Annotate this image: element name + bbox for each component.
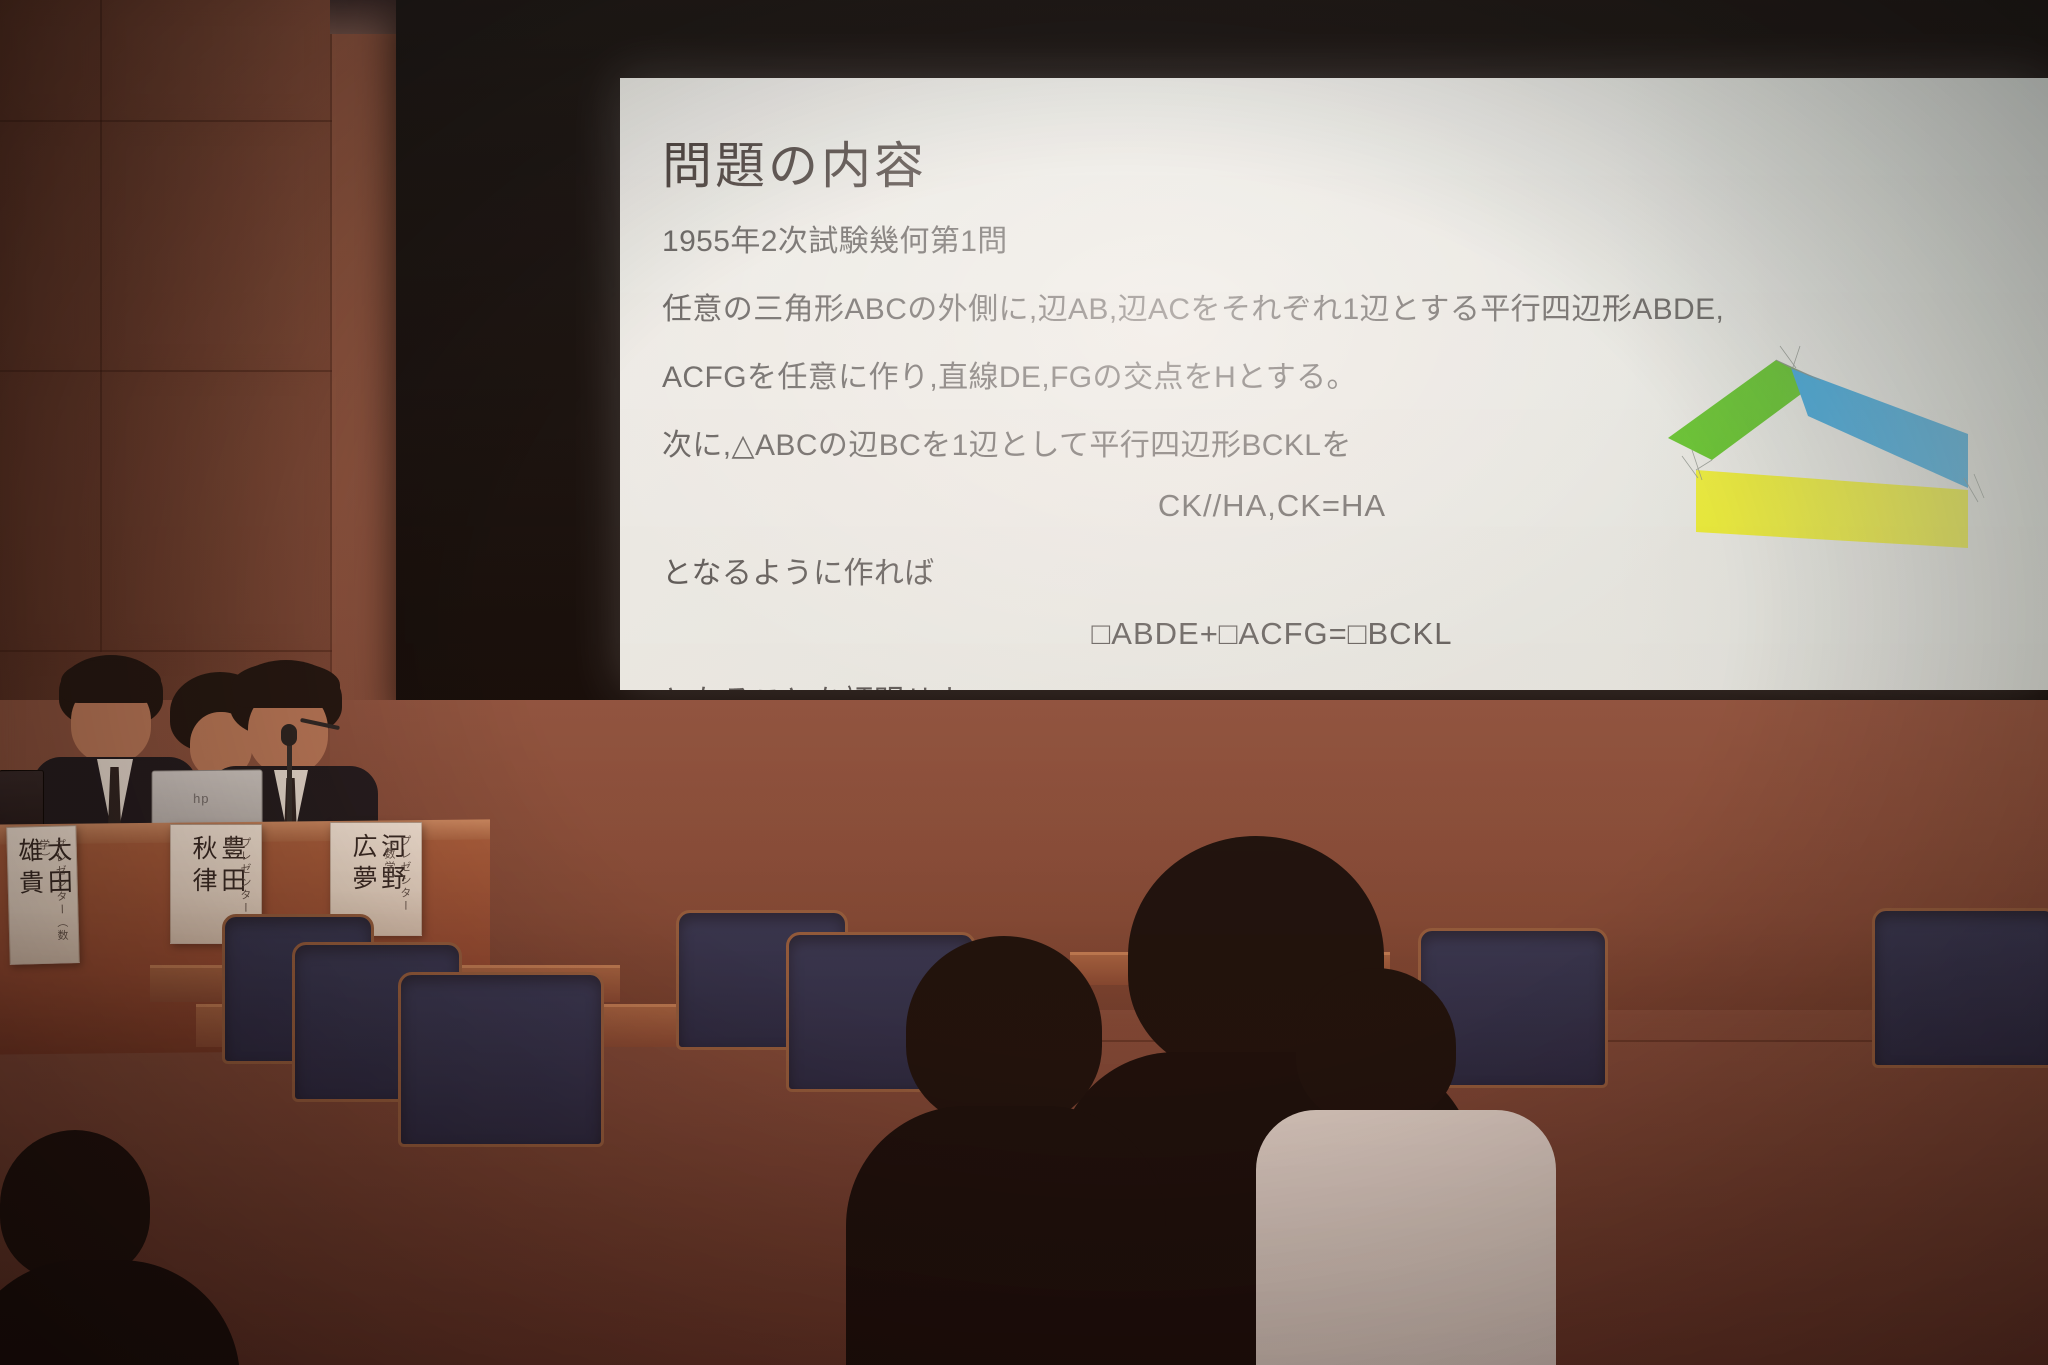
wall-shadow-left xyxy=(0,0,330,700)
audience-chair-7 xyxy=(1872,908,2048,1068)
slide-line-problem-1: 任意の三角形ABCの外側に,辺AB,辺ACをそれぞれ1辺とする平行四辺形ABDE… xyxy=(662,284,2002,328)
yellow-parallelogram-shape xyxy=(1696,470,1968,548)
placard-role-text: プレゼンター（数学） xyxy=(381,835,413,935)
slide-line-exam-reference: 1955年2次試験幾何第1問 xyxy=(662,216,2002,260)
secondary-laptop-lid xyxy=(0,770,44,833)
blue-parallelogram-shape xyxy=(1791,368,1968,488)
microphone-head xyxy=(281,724,297,746)
slide-formula-area-sum: □ABDE+□ACFG=□BCKL xyxy=(662,616,2002,652)
slide-title: 問題の内容 xyxy=(662,126,927,198)
placard-role-text: プレゼンター（数学） xyxy=(36,838,71,963)
slide-line-conclusion: となることを証明せよ。 xyxy=(662,676,2002,690)
microphone-stand xyxy=(287,738,292,830)
name-placard-1: 太田 雄貴 プレゼンター（数学） xyxy=(6,825,80,965)
auditorium-scene: 問題の内容 1955年2次試験幾何第1問 任意の三角形ABCの外側に,辺AB,辺… xyxy=(0,0,2048,1365)
laptop-brand-logo: hp xyxy=(193,791,209,806)
presentation-slide: 問題の内容 1955年2次試験幾何第1問 任意の三角形ABCの外側に,辺AB,辺… xyxy=(620,78,2048,690)
parallelogram-geometry-diagram xyxy=(1668,338,2048,568)
audience-chair-3 xyxy=(398,972,604,1147)
